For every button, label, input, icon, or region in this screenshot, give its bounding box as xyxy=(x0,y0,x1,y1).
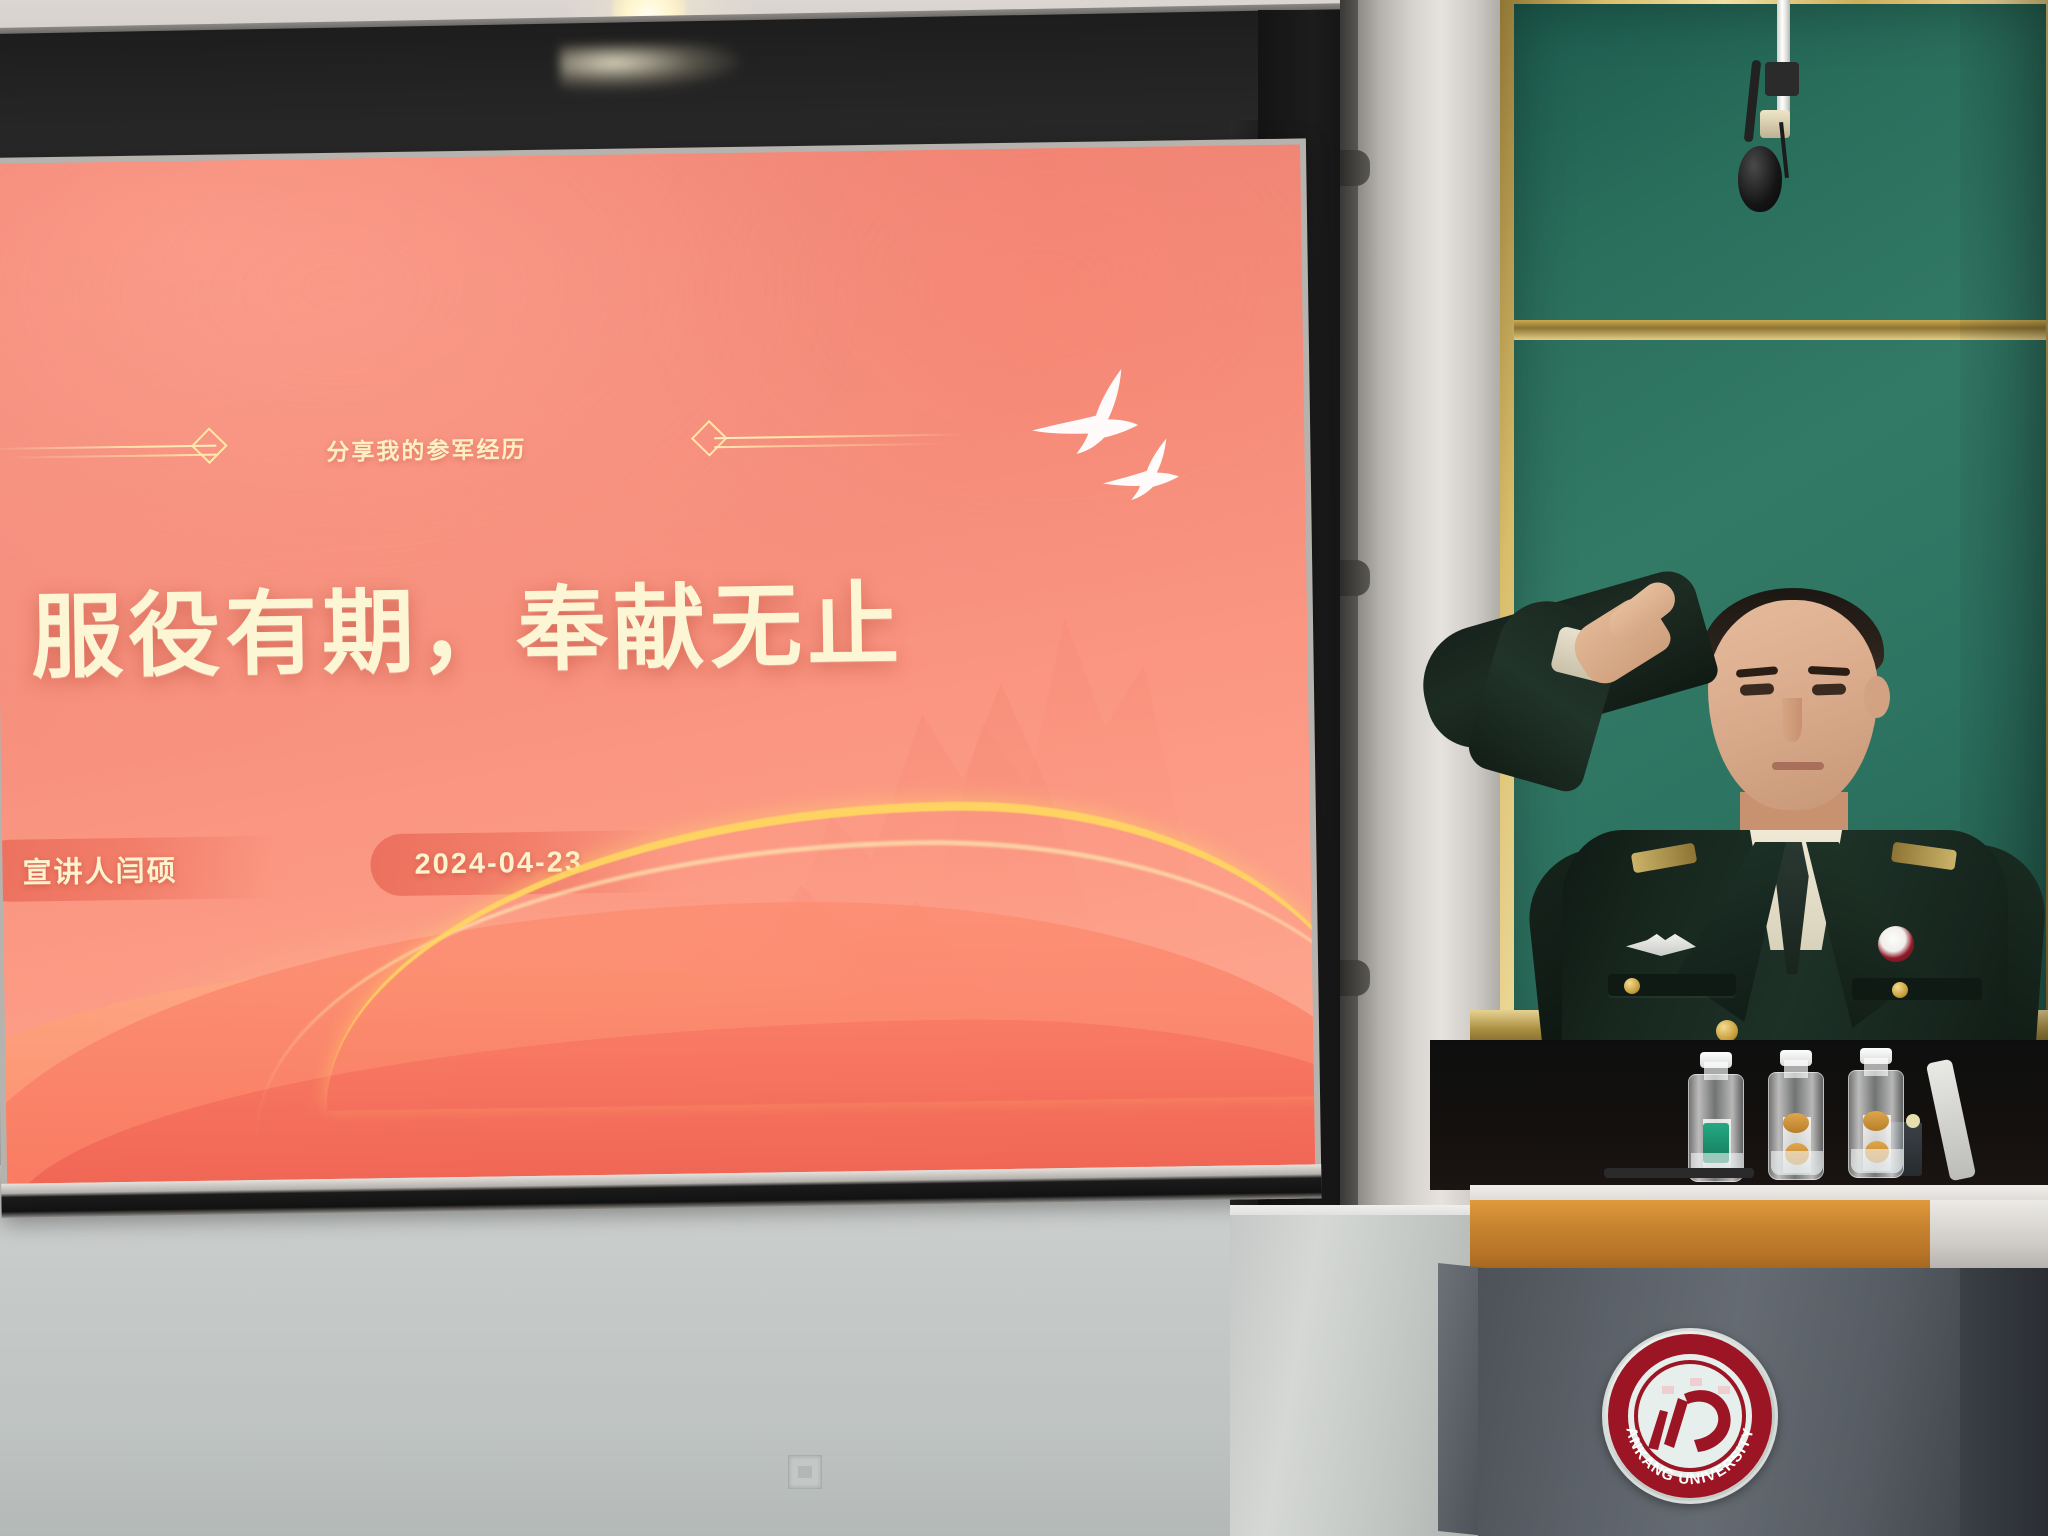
speaker-pill: 宣讲人闫硕 xyxy=(0,835,309,902)
pocket-button xyxy=(1892,982,1908,998)
slide-subtitle: 分享我的参军经历 xyxy=(326,429,626,467)
bottle-body xyxy=(1768,1072,1824,1180)
bottle-label xyxy=(1863,1111,1889,1131)
microphone-clamp xyxy=(1765,62,1799,96)
water-bottle[interactable] xyxy=(1768,1050,1824,1180)
eye xyxy=(1740,683,1775,696)
saluting-arm xyxy=(1409,564,1721,759)
microphone-capsule xyxy=(1738,146,1782,212)
speaker-pill-label: 宣讲人闫硕 xyxy=(0,847,178,892)
slide-title: 服役有期，奉献无止 xyxy=(30,550,905,696)
screenshot-root: 分享我的参军经历 服役有期，奉献无止 宣讲人闫硕 2024-04-2 xyxy=(0,0,2048,1536)
bottle-waterline xyxy=(1771,1151,1823,1175)
pocket-button xyxy=(1624,978,1640,994)
decor-line-right xyxy=(714,434,964,438)
podium-wood-trim xyxy=(1470,1200,1930,1272)
wall-outlet-icon xyxy=(788,1455,822,1489)
eye xyxy=(1812,683,1846,695)
water-bottle[interactable] xyxy=(1848,1048,1904,1178)
university-crest-icon: ANKANG UNIVERSITY xyxy=(1602,1328,1778,1504)
medal-icon xyxy=(1878,926,1914,962)
projection-screen: 分享我的参军经历 服役有期，奉献无止 宣讲人闫硕 2024-04-2 xyxy=(0,138,1322,1217)
bottle-label xyxy=(1783,1113,1809,1133)
diamond-outline-icon xyxy=(191,427,228,464)
dove-pair-icon xyxy=(1025,362,1207,505)
pillar-notch xyxy=(1340,150,1370,186)
valance-specular-highlight xyxy=(560,42,741,91)
bottle-body xyxy=(1848,1070,1904,1178)
slide-blob-right xyxy=(658,145,1315,554)
hanging-microphone-icon xyxy=(1777,0,1790,116)
mouth xyxy=(1772,762,1824,770)
nose xyxy=(1782,698,1802,742)
podium-top-right-trim xyxy=(1930,1200,2048,1272)
desk-microphone[interactable] xyxy=(1604,1168,1754,1178)
bottle-body xyxy=(1688,1074,1744,1182)
uniform-button xyxy=(1716,1020,1738,1042)
microphone-collar xyxy=(1760,110,1790,138)
pillar-notch xyxy=(1340,560,1370,596)
water-bottle[interactable] xyxy=(1688,1052,1744,1182)
podium-right-edge xyxy=(1960,1268,2048,1536)
presentation-slide: 分享我的参军经历 服役有期，奉献无止 宣讲人闫硕 2024-04-2 xyxy=(0,145,1315,1184)
pillar-notch xyxy=(1340,960,1370,996)
chest-pocket-right xyxy=(1852,978,1982,1000)
lower-wall xyxy=(0,1165,1260,1536)
bottle-waterline xyxy=(1851,1149,1903,1173)
ear xyxy=(1864,676,1890,718)
decor-line-left xyxy=(0,445,216,448)
